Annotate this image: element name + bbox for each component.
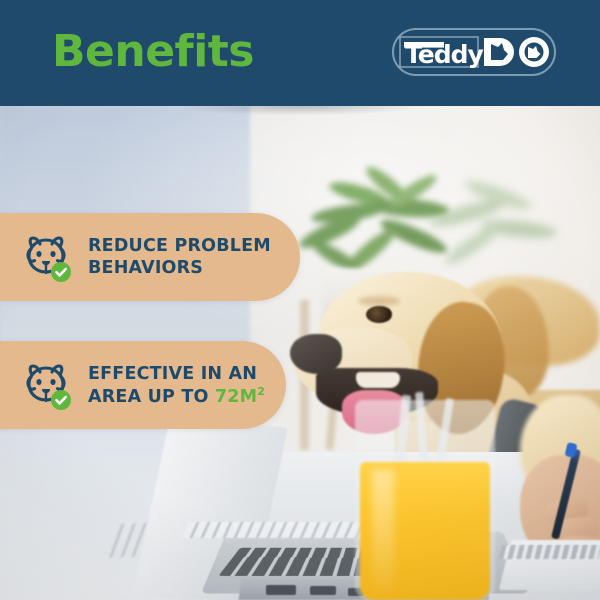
benefit-line-1: EFFECTIVE IN AN	[88, 363, 265, 385]
benefit-line-1: REDUCE PROBLEM	[88, 235, 271, 257]
benefit-pill-effective-area[interactable]: EFFECTIVE IN AN AREA UP TO 72M2	[0, 341, 286, 429]
benefit-line-2: BEHAVIORS	[88, 257, 271, 279]
benefit-text: REDUCE PROBLEM BEHAVIORS	[88, 235, 271, 279]
teddy-do-logo[interactable]: Teddy	[392, 28, 556, 76]
logo-artwork: Teddy	[394, 30, 554, 74]
dog-head-check-icon-art	[20, 231, 72, 283]
dog-head-check-icon	[20, 231, 72, 283]
benefit-line-2: AREA UP TO 72M2	[88, 385, 265, 408]
header-bar: Benefits Teddy	[0, 0, 600, 106]
poster-canvas: Benefits Teddy	[0, 0, 600, 600]
dog-head-check-icon-art	[20, 359, 72, 411]
dog-head-check-icon	[20, 359, 72, 411]
svg-text:Teddy: Teddy	[405, 40, 483, 69]
benefit-pill-reduce-problem-behaviors[interactable]: REDUCE PROBLEM BEHAVIORS	[0, 213, 300, 301]
benefit-text: EFFECTIVE IN AN AREA UP TO 72M2	[88, 363, 265, 408]
benefit-highlight-value: 72M	[215, 386, 257, 406]
benefit-line-2-prefix: AREA UP TO	[88, 386, 215, 406]
benefit-highlight-exponent: 2	[257, 385, 265, 398]
header-drop-shadow	[130, 106, 470, 132]
page-title: Benefits	[52, 26, 254, 77]
